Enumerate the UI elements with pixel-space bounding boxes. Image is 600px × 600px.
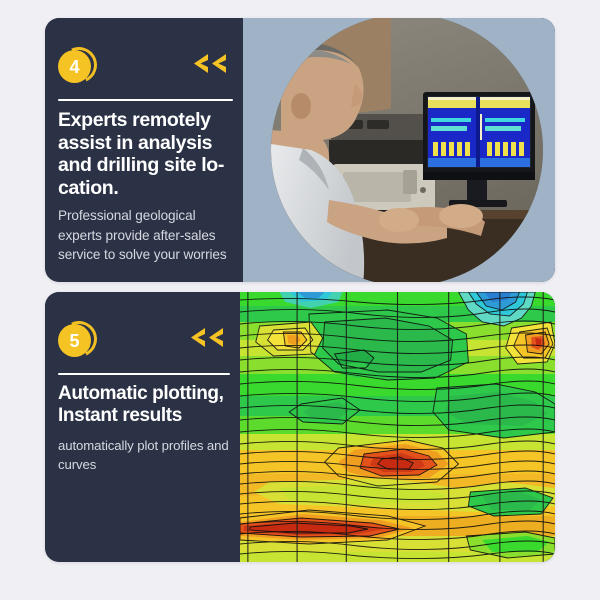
card-4-badge-row: 4 [58,46,233,90]
card-4-photo-area [243,18,555,282]
expert-at-computer-photo [271,18,543,282]
card-5-divider [58,373,230,375]
double-chevron-left-icon [192,53,227,74]
card-5-text-panel: 5 Automatic plotting, Instant results au… [45,292,240,562]
card-4-heading: Experts remotely assist in analysis and … [58,109,233,199]
card-4-text-panel: 4 Experts remotely assist in analysis an… [45,18,243,282]
double-chevron-left-icon [189,327,224,348]
badge-number: 5 [58,324,91,357]
step-number-badge: 5 [58,320,98,360]
card-5-heading: Automatic plotting, Instant results [58,383,230,427]
feature-card-5: 5 Automatic plotting, Instant results au… [45,292,555,562]
card-4-divider [58,99,233,101]
card-5-body: automatically plot profiles and curves [58,437,230,475]
badge-number: 4 [58,50,91,83]
resistivity-contour-map [240,292,555,562]
card-4-body: Professional geological experts provide … [58,206,233,264]
promo-panel: 4 Experts remotely assist in analysis an… [0,0,600,600]
step-number-badge: 4 [58,46,98,86]
card-5-badge-row: 5 [58,320,230,364]
feature-card-4: 4 Experts remotely assist in analysis an… [45,18,555,282]
